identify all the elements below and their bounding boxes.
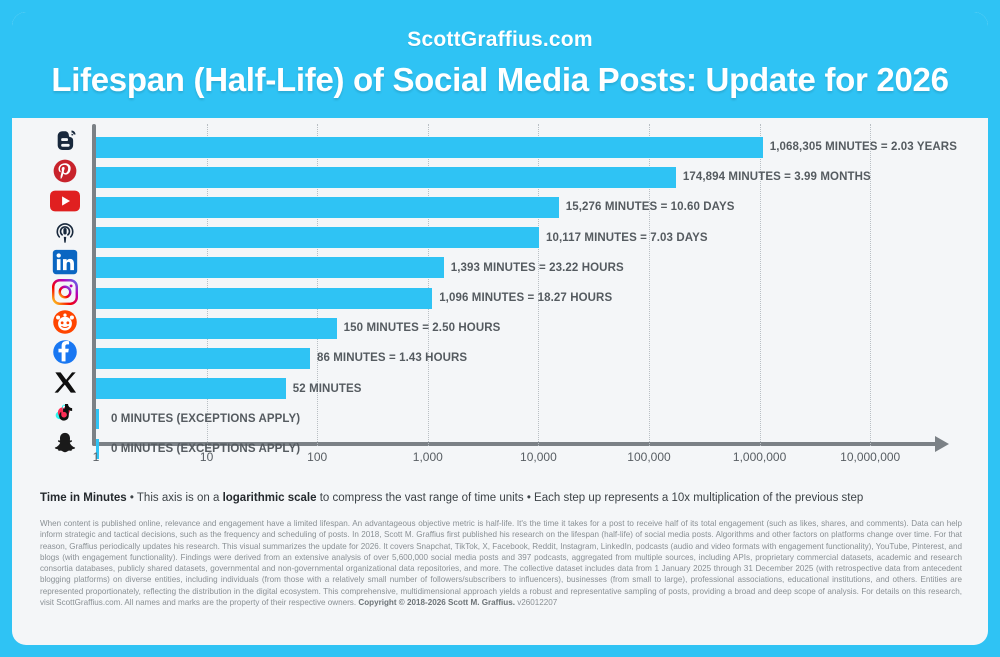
platform-icon-column xyxy=(42,126,88,458)
bar xyxy=(96,257,444,278)
bar xyxy=(96,288,432,309)
bar-value-label: 15,276 MINUTES = 10.60 DAYS xyxy=(566,201,735,213)
fineprint-version: v26012207 xyxy=(515,598,557,607)
fineprint-body: When content is published online, releva… xyxy=(40,519,962,607)
bar-row: 1,096 MINUTES = 18.27 HOURS xyxy=(96,283,946,313)
bar xyxy=(96,197,559,218)
bar-value-label: 174,894 MINUTES = 3.99 MONTHS xyxy=(683,171,871,183)
bar-row: 1,393 MINUTES = 23.22 HOURS xyxy=(96,253,946,283)
x-twitter-icon xyxy=(42,368,88,398)
bar xyxy=(96,378,286,399)
axis-caption-lead: Time in Minutes xyxy=(40,492,127,504)
bar-row: 150 MINUTES = 2.50 HOURS xyxy=(96,313,946,343)
bar-value-label: 1,096 MINUTES = 18.27 HOURS xyxy=(439,292,612,304)
bar xyxy=(96,137,763,158)
bar-value-label: 1,393 MINUTES = 23.22 HOURS xyxy=(451,262,624,274)
bar-value-label: 86 MINUTES = 1.43 HOURS xyxy=(317,352,467,364)
bar-value-label: 1,068,305 MINUTES = 2.03 YEARS xyxy=(770,141,957,153)
bar-value-label: 150 MINUTES = 2.50 HOURS xyxy=(344,322,501,334)
bar-row: 1,068,305 MINUTES = 2.03 YEARS xyxy=(96,132,946,162)
x-tick-label: 100 xyxy=(307,450,327,464)
poster-canvas: ScottGraffius.com Lifespan (Half-Life) o… xyxy=(12,12,988,645)
linkedin-icon xyxy=(42,247,88,277)
x-tick-label: 1,000,000 xyxy=(733,450,786,464)
bar-row: 10,117 MINUTES = 7.03 DAYS xyxy=(96,223,946,253)
chart-area: 1,068,305 MINUTES = 2.03 YEARS174,894 MI… xyxy=(12,118,988,486)
bar xyxy=(96,167,676,188)
axis-caption: Time in Minutes • This axis is on a loga… xyxy=(38,490,962,506)
bar xyxy=(96,348,310,369)
axis-caption-part2: to compress the vast range of time units… xyxy=(317,492,864,504)
x-axis-ticks: 1101001,00010,000100,0001,000,00010,000,… xyxy=(92,450,952,472)
facebook-icon xyxy=(42,337,88,367)
bar-row: 174,894 MINUTES = 3.99 MONTHS xyxy=(96,162,946,192)
axis-caption-part1: • This axis is on a xyxy=(127,492,223,504)
infographic-poster: ScottGraffius.com Lifespan (Half-Life) o… xyxy=(0,0,1000,657)
snapchat-icon xyxy=(42,428,88,458)
x-tick-label: 10,000 xyxy=(520,450,557,464)
plot-region: 1,068,305 MINUTES = 2.03 YEARS174,894 MI… xyxy=(92,124,952,456)
fineprint-copyright: Copyright © 2018-2026 Scott M. Graffius. xyxy=(358,598,515,607)
tiktok-icon xyxy=(42,398,88,428)
bar-rows: 1,068,305 MINUTES = 2.03 YEARS174,894 MI… xyxy=(96,132,946,464)
x-tick-label: 10 xyxy=(200,450,213,464)
youtube-icon xyxy=(42,186,88,216)
reddit-icon xyxy=(42,307,88,337)
bar-row: 15,276 MINUTES = 10.60 DAYS xyxy=(96,192,946,222)
page-title: Lifespan (Half-Life) of Social Media Pos… xyxy=(12,58,988,102)
x-tick-label: 100,000 xyxy=(627,450,670,464)
x-tick-label: 1 xyxy=(93,450,100,464)
fineprint-paragraph: When content is published online, releva… xyxy=(38,518,962,608)
pinterest-icon xyxy=(42,156,88,186)
bar xyxy=(96,318,337,339)
bar xyxy=(96,227,539,248)
bar-row: 52 MINUTES xyxy=(96,374,946,404)
bar-value-label: 10,117 MINUTES = 7.03 DAYS xyxy=(546,232,708,244)
bar-row: 86 MINUTES = 1.43 HOURS xyxy=(96,343,946,373)
blogger-icon xyxy=(42,126,88,156)
axis-caption-emphasis: logarithmic scale xyxy=(223,492,317,504)
x-tick-label: 10,000,000 xyxy=(840,450,900,464)
bar-value-label: 52 MINUTES xyxy=(293,383,362,395)
instagram-icon xyxy=(42,277,88,307)
bar-value-label: 0 MINUTES (EXCEPTIONS APPLY) xyxy=(111,413,300,425)
bar xyxy=(96,409,99,429)
bar-row: 0 MINUTES (EXCEPTIONS APPLY) xyxy=(96,404,946,434)
x-tick-label: 1,000 xyxy=(413,450,443,464)
header-banner: ScottGraffius.com Lifespan (Half-Life) o… xyxy=(12,12,988,118)
site-name: ScottGraffius.com xyxy=(12,28,988,52)
podcast-icon xyxy=(42,217,88,247)
